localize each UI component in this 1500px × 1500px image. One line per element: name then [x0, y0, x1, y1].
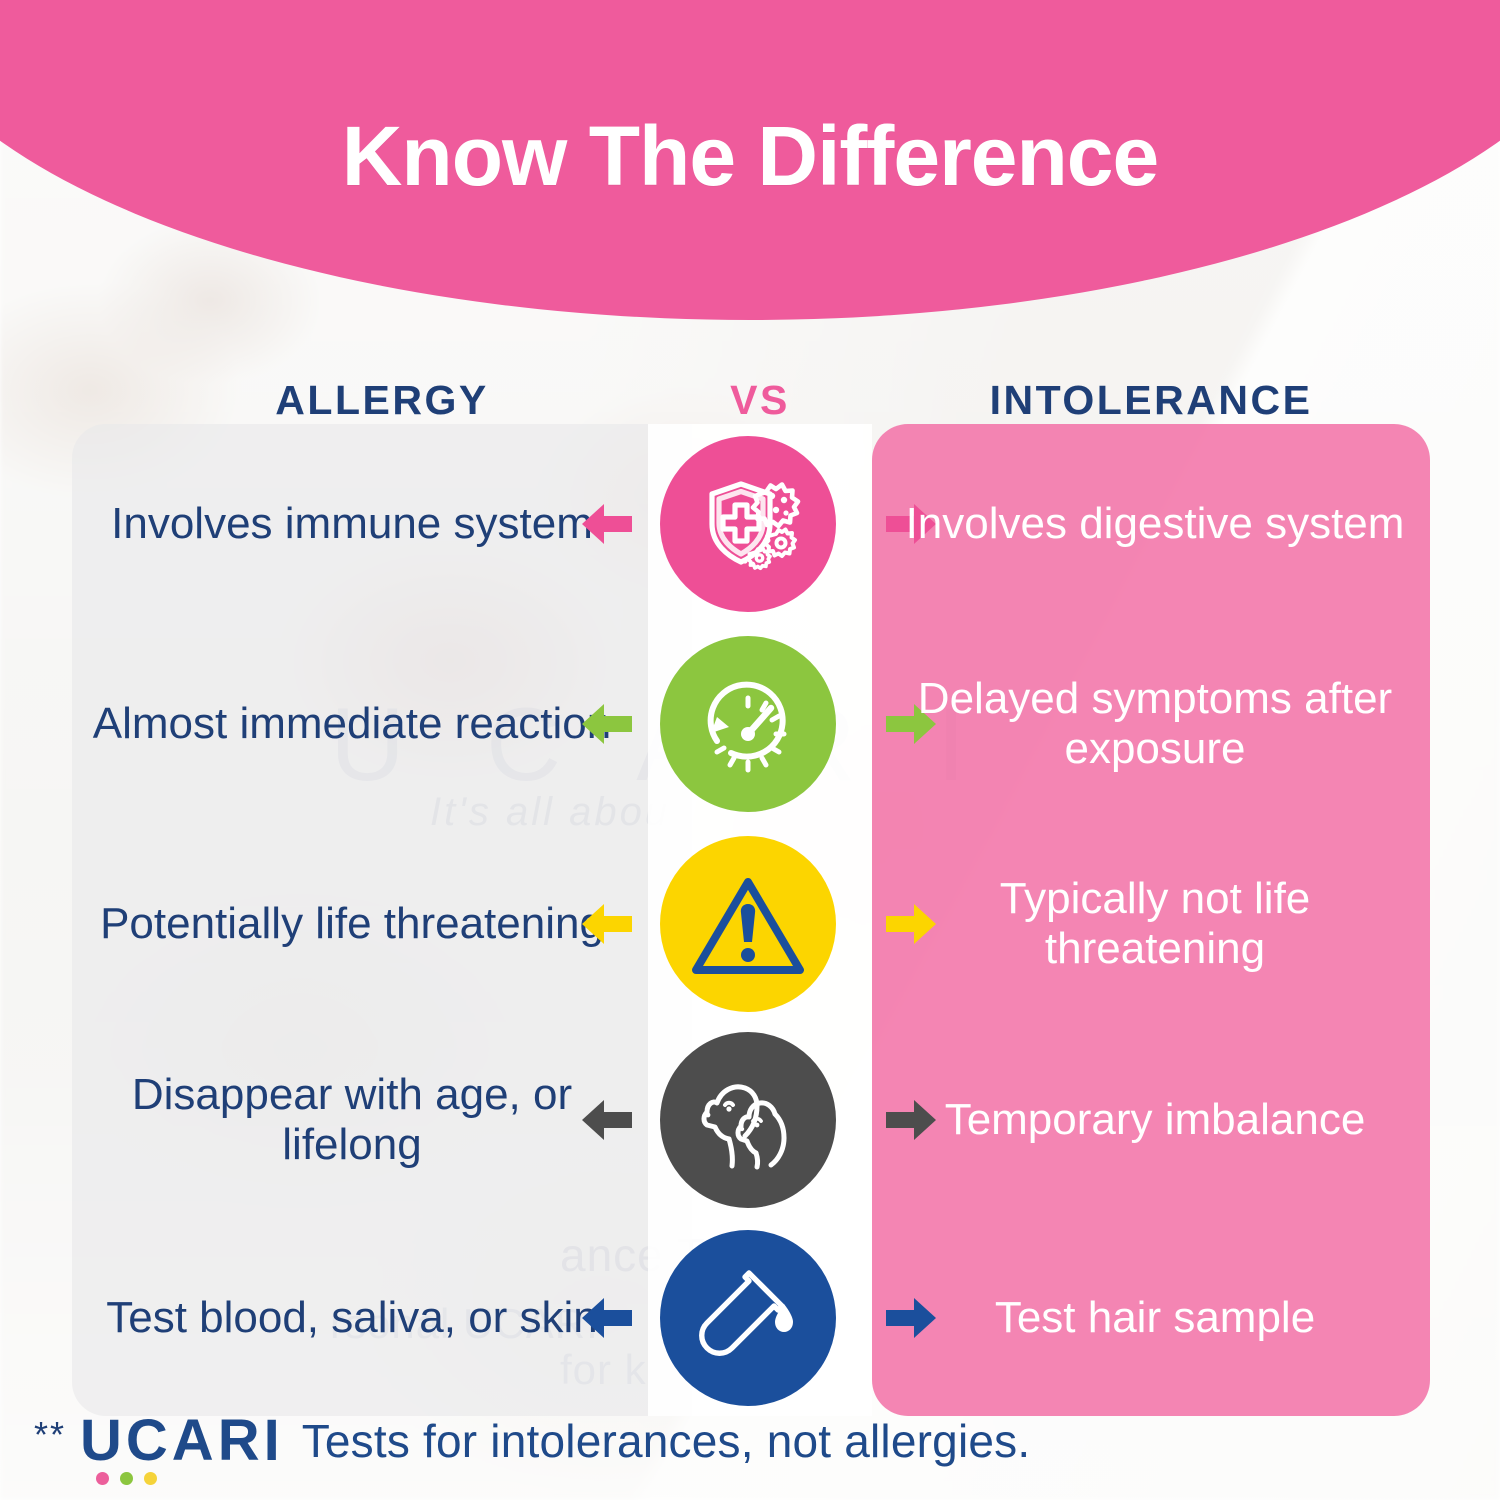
footer-tagline: Tests for intolerances, not allergies.	[302, 1414, 1031, 1468]
arrow-left-icon	[582, 502, 632, 546]
arrow-left-icon	[582, 1296, 632, 1340]
allergy-text: Test blood, saliva, or skin	[72, 1218, 632, 1418]
intolerance-text: Temporary imbalance	[880, 1020, 1430, 1220]
page-title: Know The Difference	[0, 108, 1500, 205]
column-header-versus: VS	[648, 377, 872, 424]
comparison-row: Test blood, saliva, or skin Test hair sa…	[0, 1218, 1500, 1418]
logo-dot-pink	[96, 1472, 109, 1485]
allergy-text: Almost immediate reaction	[72, 624, 632, 824]
comparison-row: Almost immediate reaction	[0, 624, 1500, 824]
allergy-text: Potentially life threatening	[72, 824, 632, 1024]
dog-cat-icon	[660, 1032, 836, 1208]
comparison-row: Potentially life threatening Typically n…	[0, 824, 1500, 1024]
allergy-text: Involves immune system	[72, 424, 632, 624]
intolerance-text: Test hair sample	[880, 1218, 1430, 1418]
ucari-logo[interactable]: UCARI	[80, 1412, 284, 1470]
intolerance-text: Delayed symptoms after exposure	[880, 624, 1430, 824]
logo-dot-green	[120, 1472, 133, 1485]
footer-asterisks: **	[34, 1417, 66, 1453]
column-header-intolerance: INTOLERANCE	[872, 377, 1430, 424]
arrow-left-icon	[582, 902, 632, 946]
intolerance-text: Typically not life threatening	[880, 824, 1430, 1024]
logo-dot-yellow	[144, 1472, 157, 1485]
arrow-left-icon	[582, 1098, 632, 1142]
footer: ** UCARI Tests for intolerances, not all…	[0, 1398, 1500, 1484]
comparison-row: Involves immune system	[0, 424, 1500, 624]
comparison-row: Disappear with age, or lifelong	[0, 1020, 1500, 1220]
logo-dots	[96, 1472, 157, 1485]
intolerance-text: Involves digestive system	[880, 424, 1430, 624]
test-tube-icon	[660, 1230, 836, 1406]
clock-timer-icon	[660, 636, 836, 812]
arrow-left-icon	[582, 702, 632, 746]
column-header-allergy: ALLERGY	[72, 377, 692, 424]
allergy-text: Disappear with age, or lifelong	[72, 1020, 632, 1220]
warning-triangle-icon	[660, 836, 836, 1012]
shield-immune-icon	[660, 436, 836, 612]
ucari-wordmark: UCARI	[80, 1412, 284, 1470]
